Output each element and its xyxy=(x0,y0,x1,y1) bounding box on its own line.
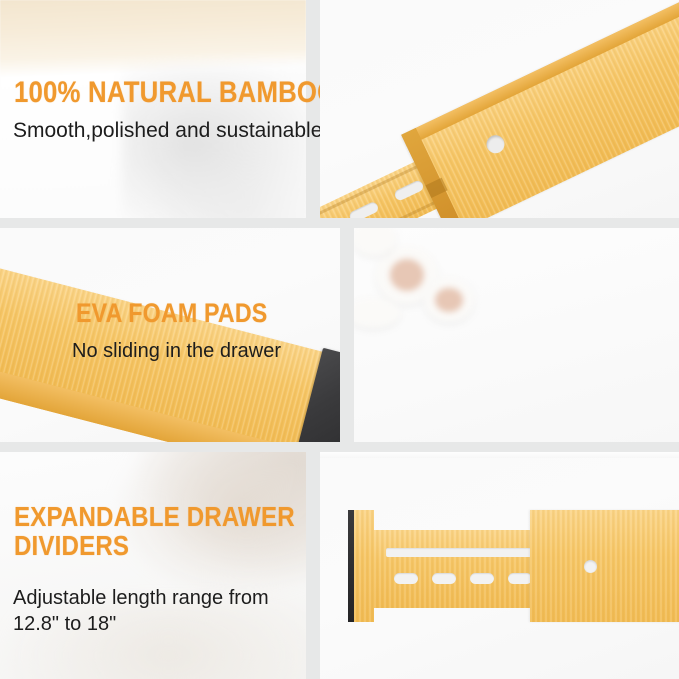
headline-eva-foam-pads: EVA FOAM PADS xyxy=(76,300,267,328)
headline-natural-bamboo: 100% NATURAL BAMBOO xyxy=(14,78,337,109)
panel-expandable-dividers xyxy=(0,452,306,679)
rail-groove xyxy=(386,548,532,557)
panel-foam-board-photo xyxy=(0,228,340,442)
bamboo-divider-diagonal xyxy=(320,0,679,218)
subline-eva-foam-pads: No sliding in the drawer xyxy=(72,338,281,364)
blurred-wood-table-background xyxy=(0,0,306,218)
divider-pin-hole xyxy=(584,560,597,573)
blurred-dishes-cluster xyxy=(354,228,536,342)
panel-natural-bamboo xyxy=(0,0,306,218)
divider-main-body xyxy=(530,510,679,622)
blurred-drawer-background xyxy=(0,452,306,679)
flat-divider-assembly xyxy=(320,452,679,679)
sliding-rail-section xyxy=(374,530,532,608)
panel-flat-divider-photo xyxy=(320,452,679,679)
subline-expandable-dividers: Adjustable length range from 12.8" to 18… xyxy=(13,585,269,637)
headline-expandable-dividers: EXPANDABLE DRAWER DIVIDERS xyxy=(14,503,295,560)
subline-natural-bamboo: Smooth,polished and sustainable xyxy=(13,117,322,144)
divider-end-post xyxy=(354,510,374,622)
product-infographic: 100% NATURAL BAMBOO Smooth,polished and … xyxy=(0,0,679,679)
panel-bamboo-divider-photo xyxy=(320,0,679,218)
panel-eva-foam-pads xyxy=(354,228,679,442)
bamboo-board-with-foam xyxy=(0,228,340,442)
